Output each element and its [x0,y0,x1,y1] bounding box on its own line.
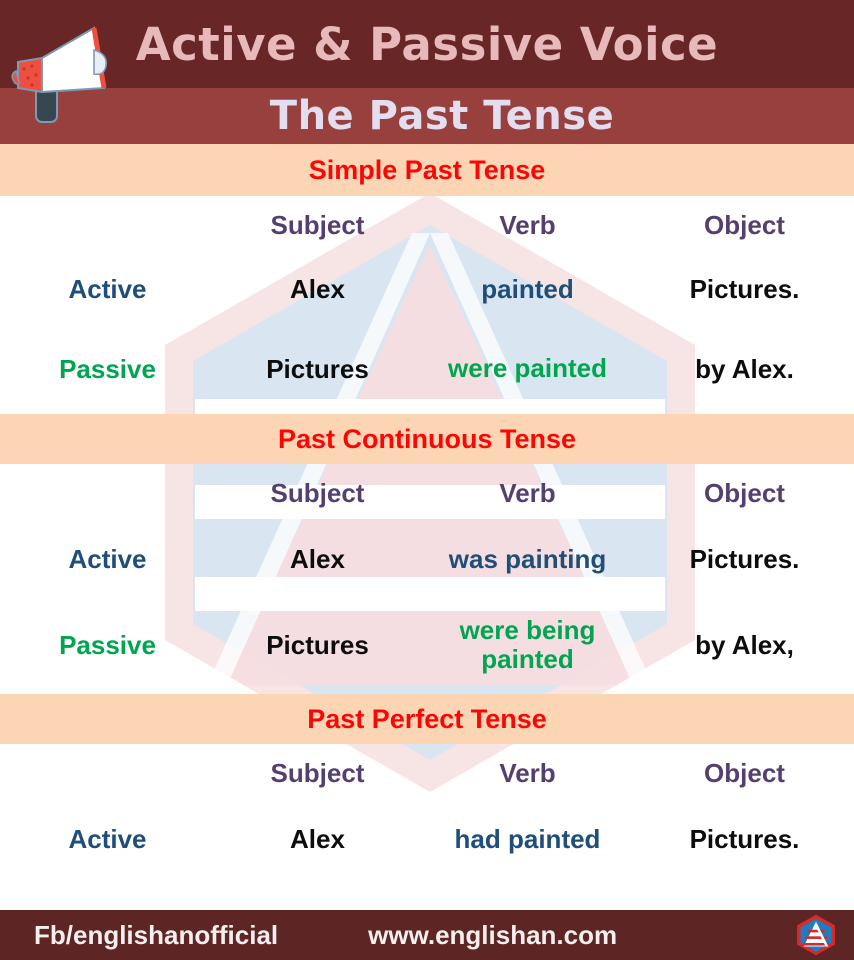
table-simple-past: Subject Verb Object Active Alex painted … [0,196,854,414]
poster-root: Active & Passive Voice The Past Tense [0,0,854,960]
poster-footer: Fb/englishanofficial www.englishan.com [0,910,854,960]
page-subtitle: The Past Tense [270,93,614,139]
column-header-subject: Subject [215,758,420,789]
column-header-verb: Verb [420,478,635,509]
cell-subject: Pictures [215,354,420,385]
column-header-object: Object [635,478,854,509]
row-label-passive: Passive [0,354,215,385]
column-header-subject: Subject [215,210,420,241]
page-title: Active & Passive Voice [0,0,854,88]
cell-verb: were being painted [420,616,635,674]
cell-object: by Alex. [635,354,854,385]
table-row-passive: Passive Pictures were painted by Alex. [0,324,854,414]
row-label-active: Active [0,544,215,575]
cell-object: by Alex, [635,630,854,661]
footer-website-url[interactable]: www.englishan.com [368,920,617,951]
cell-verb: painted [420,274,635,305]
column-header-verb: Verb [420,210,635,241]
table-past-continuous: Subject Verb Object Active Alex was pain… [0,464,854,694]
table-header-row: Subject Verb Object [0,196,854,254]
section-header-past-continuous: Past Continuous Tense [0,414,854,464]
row-label-active: Active [0,824,215,855]
cell-subject: Alex [215,274,420,305]
column-header-verb: Verb [420,758,635,789]
table-header-row: Subject Verb Object [0,744,854,802]
table-row-active: Active Alex was painting Pictures. [0,522,854,596]
cell-verb: were painted [420,354,635,383]
table-row-active: Active Alex had painted Pictures. [0,802,854,876]
cell-subject: Pictures [215,630,420,661]
column-header-subject: Subject [215,478,420,509]
table-row-passive: Passive Pictures were being painted by A… [0,596,854,694]
cell-verb: had painted [420,824,635,855]
footer-facebook-handle[interactable]: Fb/englishanofficial [34,920,278,951]
subtitle-band: The Past Tense [0,88,854,144]
table-header-row: Subject Verb Object [0,464,854,522]
cell-subject: Alex [215,544,420,575]
table-row-active: Active Alex painted Pictures. [0,254,854,324]
cell-verb: was painting [420,544,635,575]
section-header-past-perfect: Past Perfect Tense [0,694,854,744]
column-header-object: Object [635,758,854,789]
megaphone-icon [6,14,124,134]
row-label-active: Active [0,274,215,305]
cell-object: Pictures. [635,544,854,575]
cell-object: Pictures. [635,824,854,855]
englishan-hexagon-logo-icon [794,913,838,957]
cell-object: Pictures. [635,274,854,305]
cell-subject: Alex [215,824,420,855]
column-header-object: Object [635,210,854,241]
section-header-simple-past: Simple Past Tense [0,144,854,196]
poster-header: Active & Passive Voice The Past Tense [0,0,854,144]
row-label-passive: Passive [0,630,215,661]
tense-tables: Simple Past Tense Subject Verb Object Ac… [0,144,854,960]
